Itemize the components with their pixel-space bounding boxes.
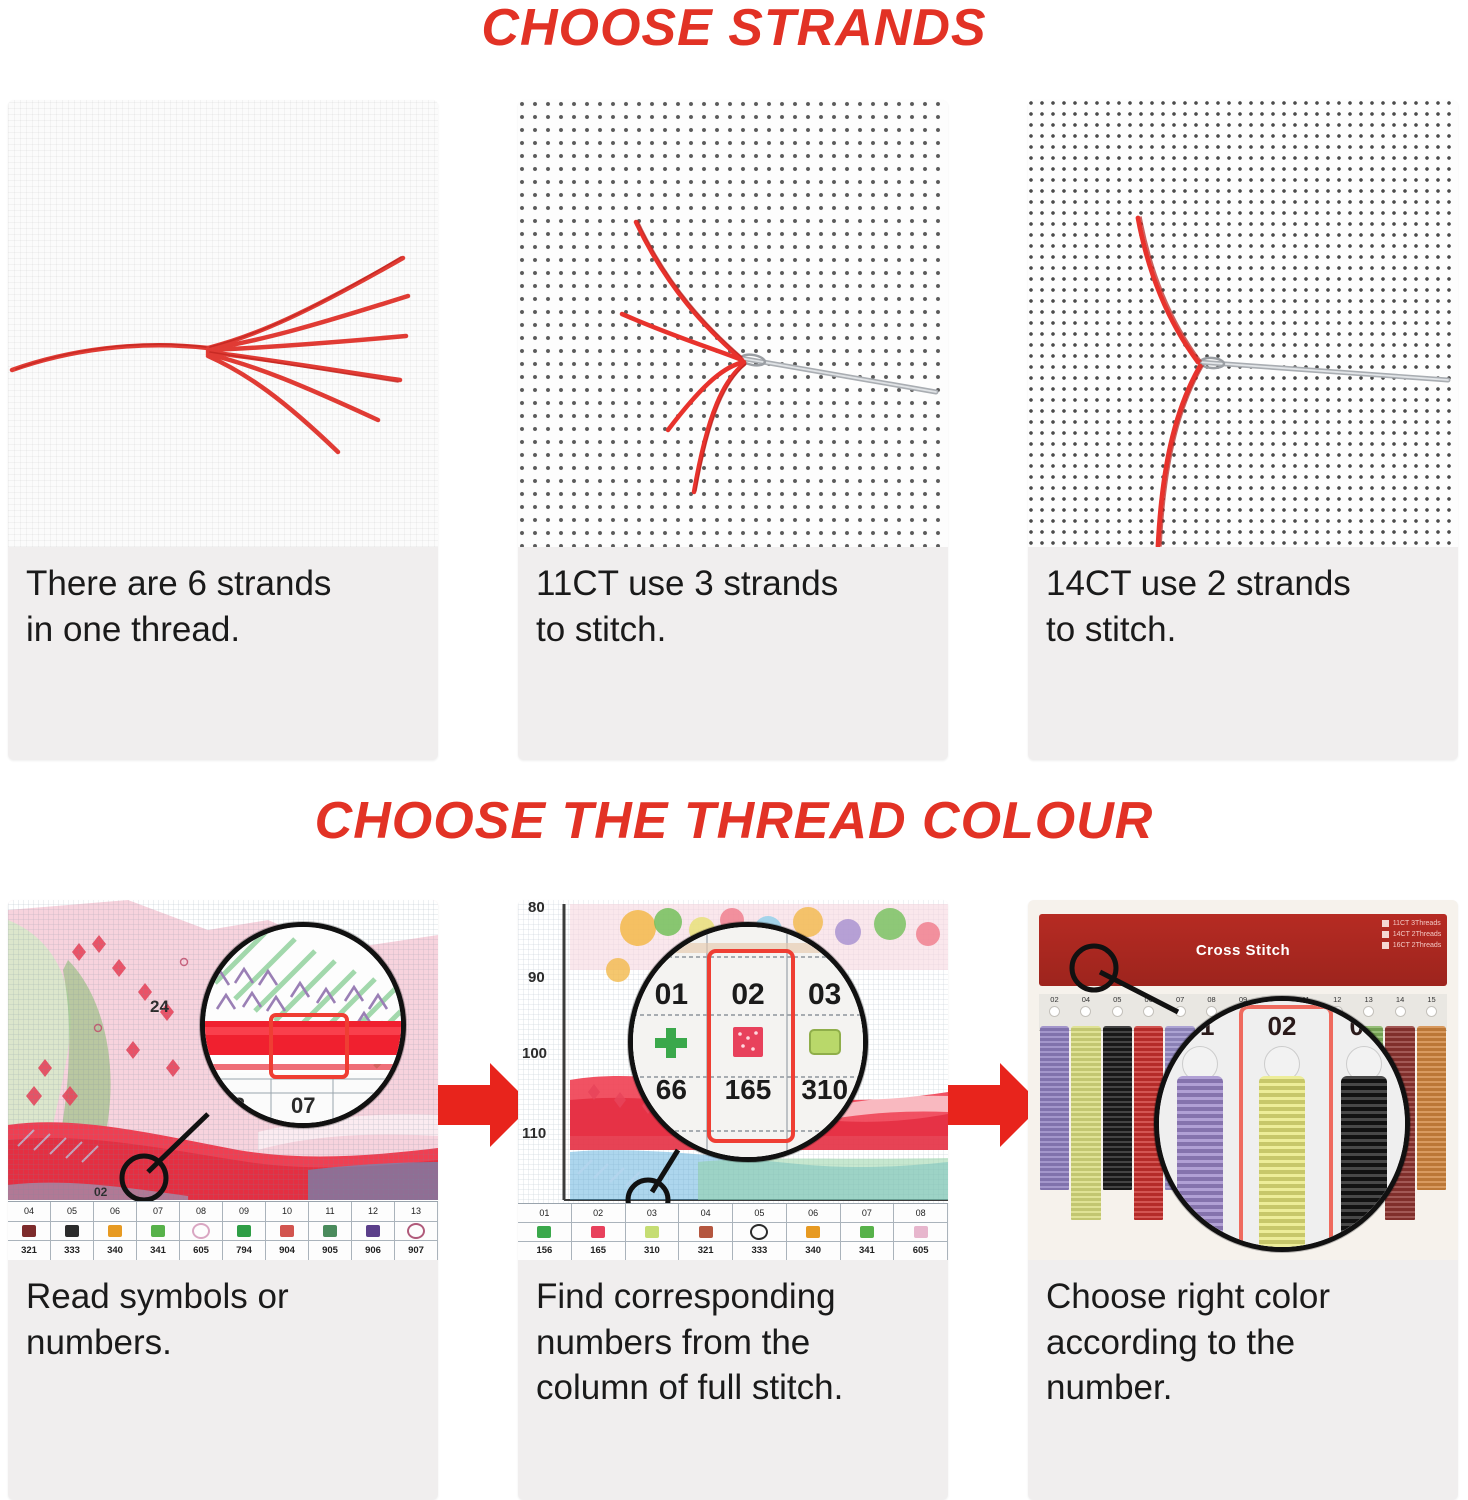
legend-symbol-cell (266, 1222, 309, 1241)
thread-card-photo: Cross Stitch 11CT 3Threads14CT 2Threads1… (1028, 900, 1458, 1260)
thread-card-banner: Cross Stitch 11CT 3Threads14CT 2Threads1… (1039, 914, 1448, 986)
magnified-dmc-number: 66 (656, 1074, 687, 1106)
svg-text:07: 07 (291, 1093, 315, 1118)
legend-number-cell: 605 (894, 1242, 948, 1260)
caption-find-numbers: Find corresponding numbers from the colu… (518, 1260, 948, 1427)
legend-header-cell: 10 (266, 1202, 309, 1221)
magnified-thread-columns: 010203 (1159, 1001, 1405, 1247)
caption-line-3: column of full stitch. (536, 1365, 930, 1411)
caption-14ct: 14CT use 2 strands to stitch. (1028, 547, 1458, 668)
magnified-thread-number: 03 (1350, 1011, 1379, 1042)
page-title-choose-thread-colour: CHOOSE THE THREAD COLOUR (0, 795, 1468, 847)
y-tick-80: 80 (528, 900, 545, 916)
magnified-dmc-number: 165 (725, 1074, 772, 1106)
caption-line-1: Read symbols or (26, 1274, 420, 1320)
thread-skein (1071, 1026, 1100, 1220)
legend-number-cell: 794 (223, 1241, 266, 1260)
legend-header-cell: 06 (94, 1202, 137, 1221)
magnified-column: 02165 (710, 978, 787, 1107)
dmc-legend-table: 0102030405060708 15616531032133334034160… (518, 1203, 948, 1260)
legend-number-cell: 341 (137, 1241, 180, 1260)
legend-symbol-cell (572, 1223, 626, 1241)
caption-line-2: according to the (1046, 1320, 1440, 1366)
legend-number-cell: 156 (518, 1242, 572, 1260)
checkbox-icon (1382, 920, 1389, 927)
legend-number-cell: 905 (309, 1241, 352, 1260)
caption-11ct: 11CT use 3 strands to stitch. (518, 547, 948, 668)
legend-header-cell: 07 (841, 1204, 895, 1222)
banner-checkbox-item: 11CT 3Threads (1382, 920, 1442, 927)
card-six-strands: There are 6 strands in one thread. (8, 100, 438, 760)
magnified-thread-column: 01 (1159, 1011, 1241, 1247)
card-14ct: 14CT use 2 strands to stitch. (1028, 100, 1458, 760)
legend-symbol-cell (733, 1223, 787, 1241)
two-strands-with-needle-illustration (1028, 100, 1458, 547)
caption-line-3: number. (1046, 1365, 1440, 1411)
checkbox-label: 14CT 2Threads (1393, 931, 1442, 938)
checkbox-label: 16CT 2Threads (1393, 942, 1442, 949)
caption-line-1: 11CT use 3 strands (536, 561, 930, 607)
legend-number-cell: 906 (352, 1241, 395, 1260)
svg-text:3: 3 (233, 1093, 245, 1118)
magnified-column-header: 03 (808, 978, 841, 1012)
magnified-thread-bundle (1341, 1076, 1387, 1247)
peg-hole-icon (1049, 1006, 1060, 1017)
legend-symbol-cell (787, 1223, 841, 1241)
magnified-thread-bundle (1259, 1076, 1305, 1247)
caption-line-2: numbers. (26, 1320, 420, 1366)
magnified-columns: 01660216503310 (633, 978, 863, 1107)
peg-hole-icon (1080, 1006, 1091, 1017)
peg-hole-icon (1112, 1006, 1123, 1017)
banner-checkbox-list: 11CT 3Threads14CT 2Threads16CT 2Threads (1382, 920, 1442, 949)
legend-symbol-row (518, 1222, 948, 1242)
legend-symbol-cell (137, 1222, 180, 1241)
thread-skein (1417, 1026, 1446, 1190)
magnified-thread-bundle (1177, 1076, 1223, 1247)
legend-header-cell: 05 (733, 1204, 787, 1222)
magnifier-loupe-threads: 010203 (1154, 996, 1410, 1252)
peg-number: 04 (1082, 995, 1090, 1004)
legend-header-cell: 02 (572, 1204, 626, 1222)
card-choose-color: Cross Stitch 11CT 3Threads14CT 2Threads1… (1028, 900, 1458, 1500)
caption-choose-color: Choose right color according to the numb… (1028, 1260, 1458, 1427)
magnified-thread-number: 02 (1268, 1011, 1297, 1042)
chart-legend-photo: 80 90 100 110 (518, 900, 948, 1260)
caption-line-1: There are 6 strands (26, 561, 420, 607)
legend-symbol-cell (518, 1223, 572, 1241)
peg-number: 05 (1113, 995, 1121, 1004)
page-title-choose-strands: CHOOSE STRANDS (0, 2, 1468, 54)
legend-symbol-cell (51, 1222, 94, 1241)
caption-six-strands: There are 6 strands in one thread. (8, 547, 438, 668)
legend-number-cell: 333 (51, 1241, 94, 1260)
banner-title: Cross Stitch (1196, 942, 1290, 959)
legend-header-cell: 09 (223, 1202, 266, 1221)
magnified-symbol (725, 1022, 771, 1064)
legend-number-row: 156165310321333340341605 (518, 1242, 948, 1260)
thread-peg: 15 (1416, 994, 1447, 1030)
magnified-column-header: 02 (731, 978, 764, 1012)
legend-header-cell: 07 (137, 1202, 180, 1221)
legend-header-cell: 01 (518, 1204, 572, 1222)
six-strands-illustration (8, 100, 438, 547)
needle-icon (1198, 357, 1448, 380)
magnified-pattern-detail: 3 07 (205, 927, 401, 1123)
legend-number-cell: 904 (266, 1241, 309, 1260)
magnified-dmc-number: 310 (801, 1074, 848, 1106)
legend-symbol-row (8, 1221, 438, 1242)
legend-header-row: 04050607080910111213 (8, 1202, 438, 1221)
legend-header-cell: 12 (352, 1202, 395, 1221)
legend-symbol-cell (679, 1223, 733, 1241)
caption-line-1: 14CT use 2 strands (1046, 561, 1440, 607)
legend-number-cell: 321 (8, 1241, 51, 1260)
thread-peg: 04 (1070, 994, 1101, 1030)
legend-header-cell: 11 (309, 1202, 352, 1221)
peg-hole-icon (1143, 1006, 1154, 1017)
peg-number: 06 (1145, 995, 1153, 1004)
needle-icon (740, 353, 936, 392)
legend-number-cell: 310 (626, 1242, 680, 1260)
card-find-numbers: 80 90 100 110 (518, 900, 948, 1500)
peg-number: 15 (1427, 995, 1435, 1004)
legend-number-cell: 321 (679, 1242, 733, 1260)
magnified-column: 03310 (786, 978, 863, 1107)
magnified-column: 0166 (633, 978, 710, 1107)
legend-header-cell: 13 (395, 1202, 438, 1221)
legend-number-cell: 907 (395, 1241, 438, 1260)
caption-line-2: to stitch. (1046, 607, 1440, 653)
checkbox-icon (1382, 931, 1389, 938)
legend-header-cell: 05 (51, 1202, 94, 1221)
symbol-legend-table: 04050607080910111213 3213333403416057949… (8, 1201, 438, 1260)
thread-peg: 05 (1102, 994, 1133, 1030)
legend-symbol-cell (352, 1222, 395, 1241)
legend-number-cell: 333 (733, 1242, 787, 1260)
thread-skein (1103, 1026, 1132, 1190)
legend-symbol-cell (395, 1222, 438, 1241)
thread-skein (1040, 1026, 1069, 1190)
magnified-legend-table: 01660216503310 (633, 927, 863, 1157)
peg-hole-icon (1426, 1006, 1437, 1017)
legend-number-cell: 340 (94, 1241, 137, 1260)
caption-line-2: in one thread. (26, 607, 420, 653)
legend-symbol-cell (894, 1223, 948, 1241)
caption-read-symbols: Read symbols or numbers. (8, 1260, 438, 1381)
legend-header-cell: 04 (679, 1204, 733, 1222)
magnifier-loupe-numbers: 01660216503310 (628, 922, 868, 1162)
legend-symbol-cell (841, 1223, 895, 1241)
legend-number-cell: 340 (787, 1242, 841, 1260)
checkbox-label: 11CT 3Threads (1393, 920, 1441, 927)
magnified-thread-column: 02 (1241, 1011, 1323, 1247)
y-tick-90: 90 (528, 969, 545, 986)
y-tick-110: 110 (522, 1125, 546, 1142)
caption-line-2: numbers from the (536, 1320, 930, 1366)
magnified-thread-number: 01 (1186, 1011, 1215, 1042)
magnified-column-header: 01 (655, 978, 688, 1012)
magnifier-loupe-pattern: 3 07 (200, 922, 406, 1128)
legend-number-cell: 605 (180, 1241, 223, 1260)
pattern-chart-photo: 24 02 (8, 900, 438, 1260)
caption-line-1: Find corresponding (536, 1274, 930, 1320)
legend-symbol-cell (309, 1222, 352, 1241)
y-tick-100: 100 (522, 1045, 547, 1062)
banner-checkbox-item: 16CT 2Threads (1382, 942, 1442, 949)
11ct-three-strands-photo (518, 100, 948, 547)
caption-line-1: Choose right color (1046, 1274, 1440, 1320)
legend-symbol-cell (626, 1223, 680, 1241)
legend-number-cell: 341 (841, 1242, 895, 1260)
legend-header-row: 0102030405060708 (518, 1204, 948, 1222)
card-11ct: 11CT use 3 strands to stitch. (518, 100, 948, 760)
legend-number-row: 321333340341605794904905906907 (8, 1241, 438, 1260)
three-strands-with-needle-illustration (518, 100, 948, 547)
infographic-page: CHOOSE STRANDS (0, 0, 1468, 1500)
14ct-two-strands-photo (1028, 100, 1458, 547)
legend-header-cell: 03 (626, 1204, 680, 1222)
magnified-symbol (648, 1022, 694, 1064)
magnified-thread-column: 03 (1323, 1011, 1405, 1247)
caption-line-2: to stitch. (536, 607, 930, 653)
legend-symbol-cell (223, 1222, 266, 1241)
legend-number-cell: 165 (572, 1242, 626, 1260)
legend-symbol-cell (180, 1222, 223, 1241)
six-strands-photo (8, 100, 438, 547)
legend-symbol-cell (94, 1222, 137, 1241)
magnified-symbol (802, 1022, 848, 1064)
legend-symbol-cell (8, 1222, 51, 1241)
legend-header-cell: 08 (180, 1202, 223, 1221)
legend-header-cell: 06 (787, 1204, 841, 1222)
peg-number: 02 (1050, 995, 1058, 1004)
checkbox-icon (1382, 942, 1389, 949)
card-read-symbols: 24 02 (8, 900, 438, 1500)
banner-checkbox-item: 14CT 2Threads (1382, 931, 1442, 938)
thread-peg: 02 (1039, 994, 1070, 1030)
legend-header-cell: 08 (894, 1204, 948, 1222)
legend-header-cell: 04 (8, 1202, 51, 1221)
